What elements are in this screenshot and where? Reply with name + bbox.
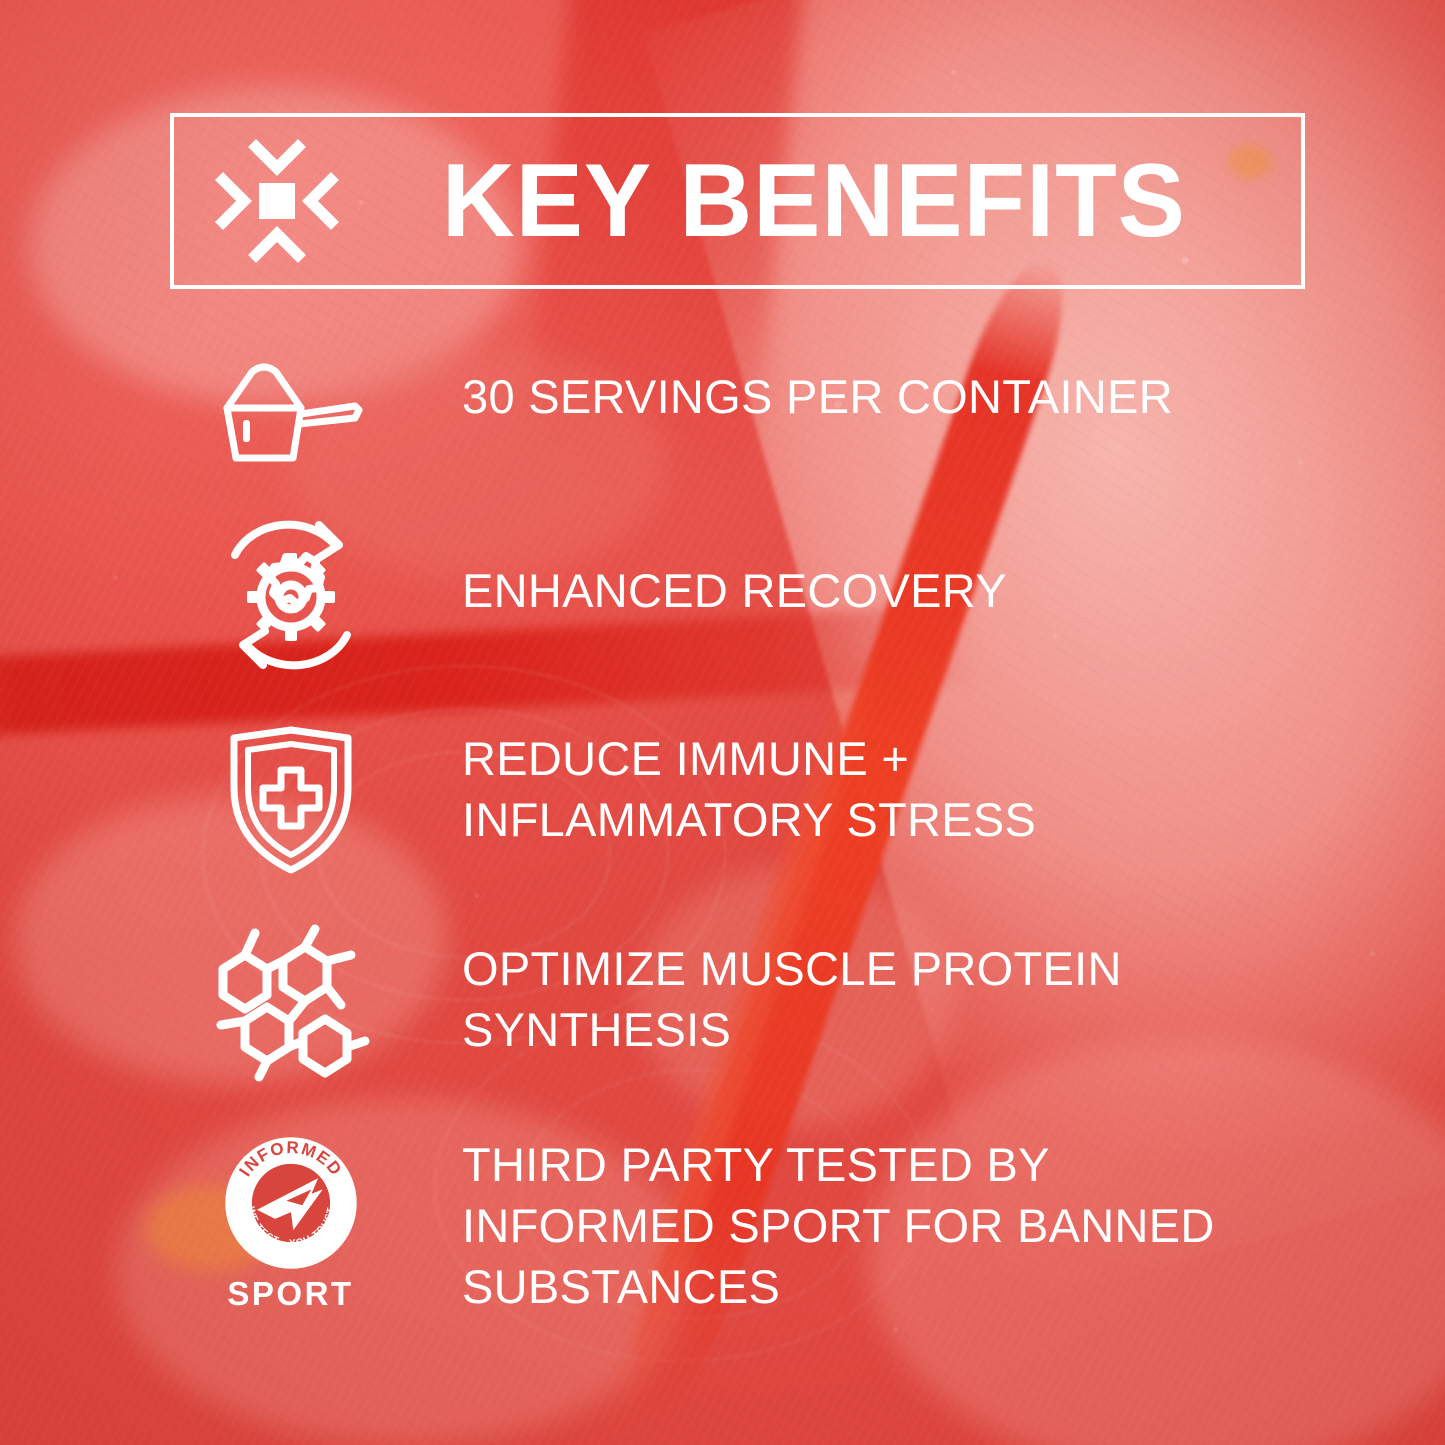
key-benefits-header: KEY BENEFITS bbox=[170, 113, 1305, 289]
informed-sport-badge: INFORMED WE TEST · YOU TRUST bbox=[223, 1135, 359, 1313]
benefit-label: ENHANCED RECOVERY bbox=[462, 560, 1295, 621]
key-benefits-infographic: KEY BENEFITS 30 SERVINGS P bbox=[0, 0, 1445, 1445]
molecule-hexagon-icon bbox=[213, 922, 368, 1080]
benefit-label: THIRD PARTY TESTED BY INFORMED SPORT FOR… bbox=[462, 1134, 1295, 1317]
list-item: INFORMED WE TEST · YOU TRUST bbox=[0, 1126, 1445, 1356]
benefit-label: REDUCE IMMUNE + INFLAMMATORY STRESS bbox=[462, 728, 1295, 850]
gear-recovery-cycle-icon bbox=[213, 512, 368, 678]
informed-sport-seal-icon: INFORMED WE TEST · YOU TRUST bbox=[223, 1135, 359, 1271]
measuring-scoop-icon bbox=[213, 358, 368, 470]
list-item: 30 SERVINGS PER CONTAINER bbox=[0, 336, 1445, 492]
informed-sport-badge-icon: INFORMED WE TEST · YOU TRUST bbox=[213, 1136, 368, 1311]
informed-sport-label: SPORT bbox=[227, 1275, 353, 1313]
benefit-label: OPTIMIZE MUSCLE PROTEIN SYNTHESIS bbox=[462, 938, 1295, 1060]
list-item: ENHANCED RECOVERY bbox=[0, 502, 1445, 688]
page-title: KEY BENEFITS bbox=[366, 149, 1287, 253]
focus-converge-icon bbox=[202, 126, 352, 276]
benefit-label: 30 SERVINGS PER CONTAINER bbox=[462, 366, 1295, 427]
list-item: OPTIMIZE MUSCLE PROTEIN SYNTHESIS bbox=[0, 916, 1445, 1106]
list-item: REDUCE IMMUNE + INFLAMMATORY STRESS bbox=[0, 712, 1445, 902]
shield-medical-cross-icon bbox=[213, 724, 368, 876]
